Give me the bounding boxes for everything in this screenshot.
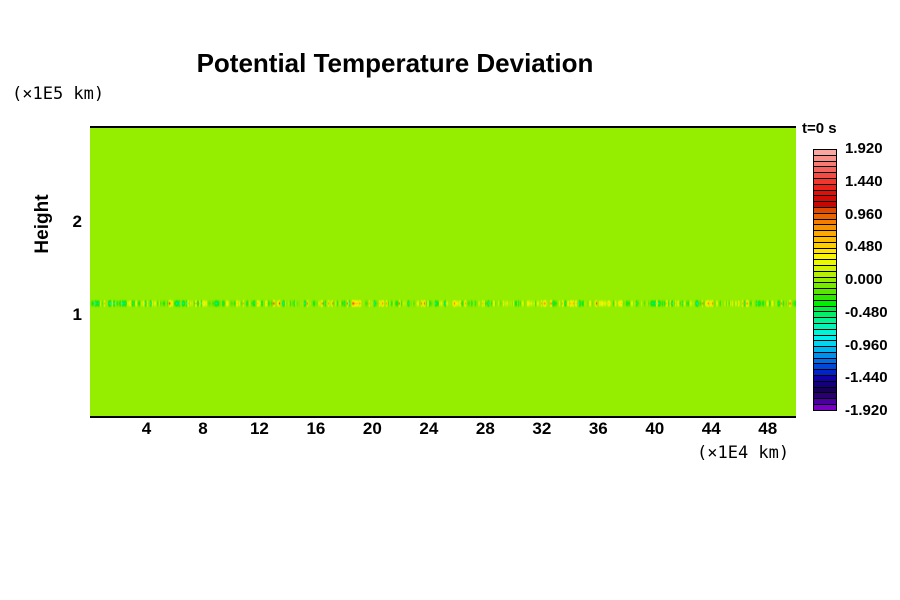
colorbar — [813, 149, 837, 411]
colorbar-tick-label: -0.480 — [845, 304, 900, 321]
x-axis-tick-label: 24 — [409, 419, 449, 439]
colorbar-tick-label: 1.920 — [845, 140, 900, 157]
heatmap-plot-area — [90, 126, 796, 418]
colorbar-tick-label: -1.440 — [845, 369, 900, 386]
colorbar-tick-label: -0.960 — [845, 337, 900, 354]
colorbar-tick-label: 0.960 — [845, 206, 900, 223]
x-axis-tick-label: 28 — [465, 419, 505, 439]
colorbar-tick-label: 0.480 — [845, 238, 900, 255]
x-axis-tick-label: 36 — [578, 419, 618, 439]
y-axis-unit-label: (×1E5 km) — [12, 84, 104, 104]
colorbar-tick-label: 0.000 — [845, 271, 900, 288]
x-axis-tick-label: 12 — [239, 419, 279, 439]
time-stamp-label: t=0 s — [802, 120, 837, 137]
x-axis-unit-label: (×1E4 km) — [697, 443, 789, 463]
y-axis-tick-label: 1 — [56, 305, 82, 325]
x-axis-tick-label: 48 — [748, 419, 788, 439]
colorbar-tick-label: -1.920 — [845, 402, 900, 419]
x-axis-tick-label: 20 — [352, 419, 392, 439]
x-axis-tick-label: 32 — [522, 419, 562, 439]
x-axis-tick-label: 8 — [183, 419, 223, 439]
colorbar-tick-label: 1.440 — [845, 173, 900, 190]
x-axis-tick-label: 40 — [635, 419, 675, 439]
x-axis-tick-label: 44 — [691, 419, 731, 439]
y-axis-title: Height — [32, 179, 54, 269]
page-title: Potential Temperature Deviation — [0, 48, 790, 79]
x-axis-tick-label: 4 — [126, 419, 166, 439]
x-axis-tick-label: 16 — [296, 419, 336, 439]
colorbar-band — [814, 405, 836, 410]
heatmap-field — [90, 128, 796, 416]
y-axis-tick-label: 2 — [56, 212, 82, 232]
